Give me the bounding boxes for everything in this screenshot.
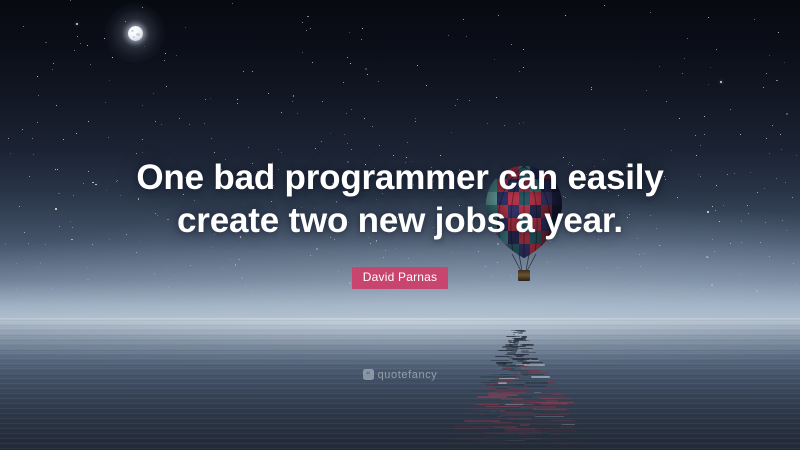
star: [52, 69, 53, 70]
watermark-inner[interactable]: “ quotefancy: [363, 369, 438, 381]
star: [361, 39, 362, 40]
quote-wallpaper: One bad programmer can easilycreate two …: [0, 0, 800, 450]
reflection-streak: [560, 426, 573, 428]
star: [238, 259, 239, 260]
star: [281, 152, 282, 153]
star: [165, 53, 166, 54]
star: [189, 124, 190, 125]
reflection-streak: [497, 416, 502, 417]
star: [687, 38, 688, 39]
star: [379, 145, 380, 146]
star: [763, 87, 764, 88]
star: [347, 57, 348, 58]
author-badge[interactable]: David Parnas: [352, 267, 448, 289]
star: [659, 245, 660, 246]
reflection-streak: [503, 444, 513, 445]
star: [5, 243, 7, 245]
star: [366, 302, 367, 303]
moon-disc: [128, 26, 143, 41]
reflection-streak: [520, 444, 526, 445]
star: [237, 99, 238, 100]
star: [136, 153, 137, 154]
star: [641, 253, 642, 254]
quote-line-2: create two new jobs a year.: [177, 201, 623, 240]
star: [565, 15, 566, 16]
star: [776, 80, 777, 81]
star: [90, 64, 91, 65]
star: [312, 62, 313, 63]
quote-text: One bad programmer can easilycreate two …: [0, 156, 800, 242]
star: [370, 243, 371, 244]
star: [110, 294, 111, 295]
star: [407, 142, 408, 143]
star: [293, 95, 294, 96]
star: [38, 95, 39, 96]
star: [232, 3, 233, 4]
star: [351, 109, 352, 110]
star: [321, 141, 322, 142]
star: [504, 125, 505, 126]
star: [204, 123, 205, 124]
star: [229, 259, 230, 260]
star: [756, 290, 758, 292]
water-ripples: [0, 318, 800, 450]
star: [708, 257, 709, 258]
star: [227, 300, 228, 301]
star: [306, 30, 307, 31]
star: [498, 15, 499, 16]
reflection-streak: [535, 416, 564, 417]
star: [622, 298, 623, 299]
star: [451, 252, 452, 253]
star: [523, 67, 524, 68]
star: [784, 62, 785, 63]
star: [23, 26, 24, 27]
star: [591, 87, 592, 88]
star: [292, 101, 293, 102]
star: [481, 301, 482, 302]
star: [199, 293, 200, 294]
star: [346, 113, 347, 114]
star: [88, 121, 89, 122]
star: [410, 294, 411, 295]
star: [679, 118, 680, 119]
star: [582, 309, 583, 310]
star: [704, 134, 705, 135]
star: [273, 309, 274, 310]
star: [106, 306, 107, 307]
star: [92, 244, 93, 245]
star: [523, 122, 524, 123]
star: [415, 118, 416, 119]
star: [63, 139, 64, 140]
star: [185, 27, 186, 28]
star: [211, 138, 212, 139]
star: [415, 121, 416, 122]
star: [108, 137, 109, 138]
star: [76, 23, 78, 25]
star: [235, 264, 236, 265]
star: [344, 134, 345, 135]
star: [299, 310, 300, 311]
reflection-streak: [544, 388, 558, 389]
moon-crater: [133, 36, 136, 38]
star: [302, 52, 303, 53]
star: [644, 253, 645, 254]
star: [575, 310, 576, 311]
star: [68, 300, 69, 301]
reflection-streak: [525, 382, 548, 384]
star: [769, 256, 770, 257]
star: [288, 307, 289, 308]
star: [651, 299, 652, 300]
star: [591, 89, 592, 90]
star: [153, 93, 154, 94]
star: [316, 248, 317, 249]
star: [766, 138, 767, 139]
reflection-streak: [507, 418, 517, 420]
moon-crater: [136, 33, 140, 36]
star: [650, 12, 651, 13]
star: [781, 149, 782, 150]
star: [77, 36, 78, 37]
star: [142, 139, 143, 140]
star: [793, 263, 794, 264]
star: [349, 32, 350, 33]
star: [315, 148, 316, 149]
star: [268, 93, 269, 94]
star: [646, 90, 647, 91]
moon-crater: [131, 30, 134, 33]
star: [214, 152, 215, 153]
star: [700, 145, 701, 146]
star: [494, 59, 495, 60]
star: [16, 263, 17, 264]
star: [408, 258, 409, 259]
star: [395, 248, 396, 249]
star: [708, 84, 709, 85]
reflection-streak: [476, 414, 481, 416]
star: [456, 309, 457, 310]
star: [624, 129, 625, 130]
star: [633, 303, 634, 304]
quote-line-1: One bad programmer can easily: [136, 158, 663, 197]
water-surface: [0, 318, 800, 450]
star: [457, 99, 458, 100]
star: [350, 291, 351, 292]
star: [112, 57, 113, 58]
star: [299, 296, 300, 297]
star: [639, 254, 640, 255]
star: [74, 50, 75, 51]
star: [372, 126, 373, 127]
star: [696, 309, 697, 310]
star: [165, 264, 166, 265]
star: [455, 105, 456, 106]
star: [37, 122, 38, 123]
star: [448, 35, 449, 36]
star: [237, 103, 238, 104]
star: [769, 55, 770, 56]
star: [502, 303, 503, 304]
star: [381, 307, 382, 308]
star: [760, 242, 761, 243]
star: [477, 309, 478, 310]
star: [786, 113, 788, 115]
star: [343, 82, 344, 83]
reflection-streak: [519, 408, 524, 409]
star: [278, 149, 279, 150]
star: [720, 81, 722, 83]
star: [196, 307, 197, 308]
star: [426, 85, 427, 86]
star: [695, 135, 696, 136]
star: [83, 297, 84, 298]
star: [350, 63, 351, 64]
star: [716, 49, 717, 50]
star: [205, 99, 206, 100]
reflection-streak: [551, 434, 563, 435]
star: [293, 96, 294, 97]
star: [164, 60, 165, 61]
star: [109, 80, 110, 81]
star: [460, 295, 461, 296]
reflection-streak: [492, 422, 513, 423]
star: [87, 45, 88, 46]
star: [523, 49, 524, 50]
star: [682, 73, 683, 74]
star: [708, 17, 709, 18]
star: [730, 243, 731, 244]
star: [753, 306, 754, 307]
star: [178, 303, 179, 304]
star: [772, 125, 773, 126]
star: [52, 302, 53, 303]
star: [251, 291, 252, 292]
star: [362, 28, 363, 29]
star: [155, 121, 156, 122]
star: [76, 133, 77, 134]
star: [482, 299, 483, 300]
star: [704, 116, 705, 117]
star: [22, 129, 23, 130]
star: [322, 101, 323, 102]
star: [211, 308, 212, 309]
star: [351, 149, 352, 150]
star: [166, 86, 167, 87]
watermark: “ quotefancy: [0, 364, 800, 382]
star: [451, 132, 452, 133]
star: [176, 55, 177, 56]
star: [374, 307, 375, 308]
star: [56, 105, 57, 106]
star: [487, 123, 488, 124]
star: [277, 301, 278, 302]
star: [297, 113, 298, 114]
star: [666, 101, 667, 102]
star: [519, 123, 520, 124]
star: [469, 100, 470, 101]
star: [679, 308, 680, 309]
star: [383, 257, 384, 258]
star: [310, 28, 311, 29]
reflection-streak: [455, 428, 488, 429]
star: [654, 311, 655, 312]
star: [397, 306, 398, 307]
reflection-streak: [559, 444, 584, 445]
star: [714, 251, 715, 252]
star: [252, 71, 253, 72]
star: [142, 105, 143, 106]
star: [211, 247, 212, 248]
star: [511, 44, 512, 45]
star: [8, 138, 9, 139]
star: [105, 102, 106, 103]
star: [367, 74, 368, 75]
star: [496, 97, 497, 98]
quote-mark-icon: “: [363, 369, 374, 380]
star: [659, 66, 660, 67]
quote-block: One bad programmer can easilycreate two …: [0, 156, 800, 242]
star: [210, 98, 211, 99]
star: [512, 300, 513, 301]
author-row: David Parnas: [0, 267, 800, 289]
watermark-brand: quotefancy: [378, 369, 438, 381]
star: [780, 134, 781, 135]
star: [136, 252, 137, 253]
star: [32, 138, 33, 139]
star: [276, 307, 277, 308]
star: [45, 244, 46, 245]
star: [45, 42, 46, 43]
star: [466, 36, 467, 37]
star: [364, 118, 365, 119]
star: [243, 71, 244, 72]
star: [601, 293, 602, 294]
star: [730, 109, 731, 110]
star: [80, 43, 81, 44]
star: [710, 67, 711, 68]
balloon-reflection: [452, 330, 584, 448]
star: [740, 134, 741, 135]
star: [161, 124, 162, 125]
star: [281, 112, 282, 113]
star: [417, 65, 418, 66]
star: [754, 19, 755, 20]
star: [10, 153, 11, 154]
star: [778, 32, 779, 33]
star: [769, 153, 770, 154]
star: [569, 307, 570, 308]
star: [310, 255, 311, 256]
reflection-streak: [500, 410, 505, 412]
star: [165, 305, 166, 306]
star: [671, 150, 672, 151]
star: [365, 68, 367, 70]
star: [385, 250, 386, 251]
star: [40, 262, 42, 264]
star: [604, 5, 605, 6]
reflection-streak: [450, 444, 472, 446]
star: [485, 310, 486, 311]
star: [53, 63, 54, 64]
star: [142, 152, 143, 153]
star: [766, 73, 767, 74]
reflection-streak: [520, 424, 530, 426]
star: [727, 295, 728, 296]
star: [347, 143, 348, 144]
star: [478, 251, 479, 252]
star: [463, 19, 464, 20]
star: [330, 133, 331, 134]
star: [284, 299, 285, 300]
star: [375, 304, 376, 305]
star: [70, 0, 71, 1]
star: [248, 147, 249, 148]
star: [642, 308, 643, 309]
star: [378, 81, 379, 82]
star: [684, 58, 685, 59]
star: [307, 16, 308, 17]
star: [302, 22, 303, 23]
star: [179, 118, 180, 119]
reflection-streak: [470, 422, 482, 424]
star: [37, 76, 38, 77]
star: [519, 71, 520, 72]
star: [28, 243, 29, 244]
star: [627, 296, 628, 297]
reflection-streak: [495, 356, 508, 357]
star: [706, 256, 707, 257]
